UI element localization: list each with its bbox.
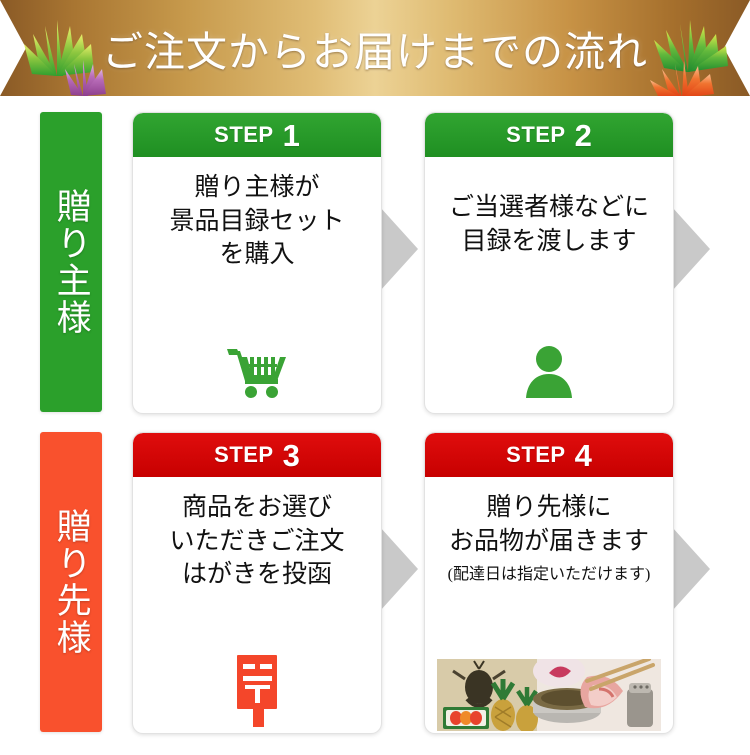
step-card-3: STEP 3 商品をお選び いただきご注文 はがきを投函 — [132, 432, 382, 734]
step-1-text: 贈り主様が 景品目録セット を購入 — [133, 157, 381, 272]
side-label-giver: 贈り主様 — [40, 112, 102, 412]
step-1-header: STEP 1 — [133, 113, 381, 157]
step-1-body: 贈り主様が 景品目録セット を購入 — [133, 157, 381, 411]
step-3-header: STEP 3 — [133, 433, 381, 477]
step-2-word: STEP — [506, 122, 565, 148]
step-card-2: STEP 2 ご当選者様などに 目録を渡します — [424, 112, 674, 414]
step-4-number: 4 — [575, 440, 592, 471]
step-3-text: 商品をお選び いただきご注文 はがきを投函 — [133, 477, 381, 592]
step-3-number: 3 — [283, 440, 300, 471]
arrow-step3-to-step4-icon — [380, 527, 418, 611]
step-card-4: STEP 4 贈り先様に お品物が届きます (配達日は指定いただけます) — [424, 432, 674, 734]
step-2-header: STEP 2 — [425, 113, 673, 157]
postbox-icon — [133, 655, 381, 727]
step-4-note: (配達日は指定いただけます) — [425, 560, 673, 584]
step-2-text: ご当選者様などに 目録を渡します — [425, 157, 673, 258]
step-2-number: 2 — [575, 120, 592, 151]
step-1-number: 1 — [283, 120, 300, 151]
step-1-word: STEP — [214, 122, 273, 148]
step-card-1: STEP 1 贈り主様が 景品目録セット を購入 — [132, 112, 382, 414]
step-4-text: 贈り先様に お品物が届きます — [425, 477, 673, 558]
arrow-step4-end-icon — [672, 527, 710, 611]
header-banner: ご注文からお届けまでの流れ — [0, 0, 750, 96]
step-4-body: 贈り先様に お品物が届きます (配達日は指定いただけます) — [425, 477, 673, 731]
arrow-step2-to-step3-icon — [672, 207, 710, 291]
step-2-body: ご当選者様などに 目録を渡します — [425, 157, 673, 411]
side-label-recipient: 贈り先様 — [40, 432, 102, 732]
step-4-header: STEP 4 — [425, 433, 673, 477]
person-icon — [425, 343, 673, 399]
page-title: ご注文からお届けまでの流れ — [0, 0, 750, 96]
shopping-cart-icon — [133, 345, 381, 399]
arrow-step1-to-step2-icon — [380, 207, 418, 291]
step-4-word: STEP — [506, 442, 565, 468]
step-3-body: 商品をお選び いただきご注文 はがきを投函 — [133, 477, 381, 731]
gift-products-photo — [437, 659, 661, 731]
step-3-word: STEP — [214, 442, 273, 468]
